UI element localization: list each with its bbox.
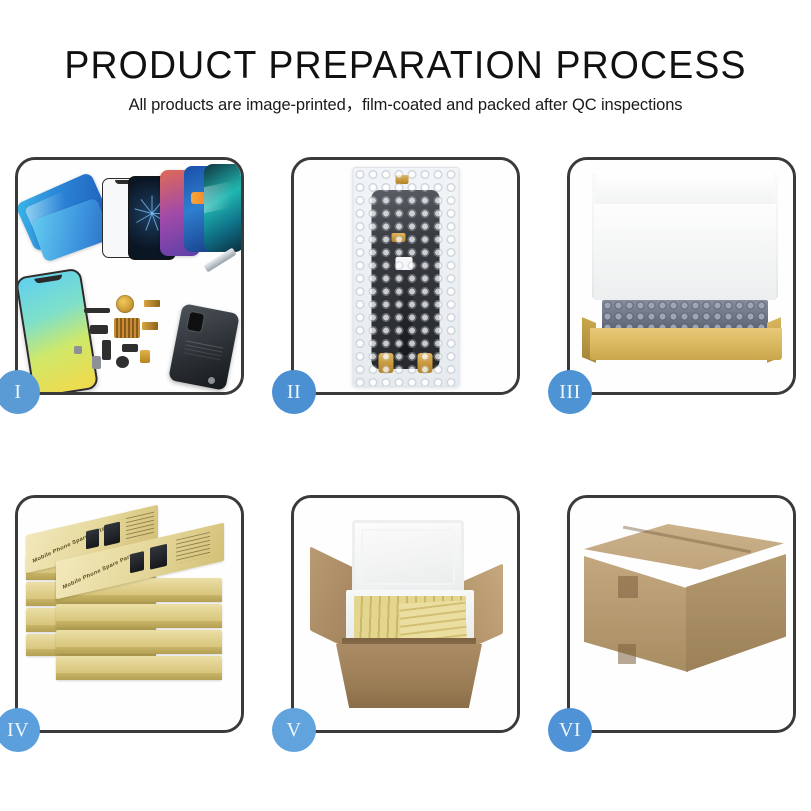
step-2-image <box>294 160 517 392</box>
step-panel-5: V <box>291 495 520 733</box>
process-step-grid: I II <box>15 157 796 735</box>
step-panel-4: Mobile Phone Spare Parts Mobile Phone Sp… <box>15 495 244 733</box>
foam-box-lid <box>352 520 464 594</box>
step-badge-5: V <box>272 708 316 752</box>
step-panel-2: II <box>291 157 520 395</box>
camera-flex-part <box>142 322 158 330</box>
gold-contact-part <box>140 350 150 363</box>
carton-right-face <box>686 554 786 672</box>
carton-front-panel <box>336 644 482 708</box>
vibrator-coil-part <box>116 295 134 313</box>
step-5-image <box>294 498 517 730</box>
battery-connector-part <box>122 344 138 352</box>
page-title: PRODUCT PREPARATION PROCESS <box>16 44 795 88</box>
step-6-image <box>570 498 793 730</box>
teal-gradient-phone <box>204 164 241 252</box>
carton-tape-lower <box>618 644 636 664</box>
white-foam-liner <box>594 204 776 300</box>
screw-part <box>74 346 82 354</box>
box-thumbnail-b1 <box>130 551 144 573</box>
step-panel-1: I <box>15 157 244 395</box>
flex-cable-part <box>144 300 160 307</box>
step-badge-2: II <box>272 370 316 414</box>
white-connector-tab <box>395 257 412 270</box>
box-spec-lines-1 <box>126 512 154 542</box>
box-lid-top-edge <box>596 174 774 204</box>
gold-box-front-4 <box>56 630 222 654</box>
step-badge-1: I <box>0 370 40 414</box>
gold-box-front-5 <box>56 656 222 680</box>
page-subtitle: All products are image-printed，film-coat… <box>0 94 811 116</box>
antenna-part <box>102 340 111 360</box>
header: PRODUCT PREPARATION PROCESS All products… <box>0 44 811 116</box>
gold-box-stack: Mobile Phone Spare Parts Mobile Phone Sp… <box>26 516 240 712</box>
speaker-part <box>84 308 110 313</box>
box-thumbnail-b2 <box>150 544 167 570</box>
gold-box-front-3 <box>56 604 222 628</box>
bubble-wrapped-contents <box>602 300 768 330</box>
step-3-image <box>570 160 793 392</box>
step-1-image <box>18 160 241 392</box>
box-spec-lines-2 <box>176 532 210 564</box>
gold-connector-right <box>418 353 433 373</box>
box-thumbnail-a2 <box>104 522 120 547</box>
carton-left-face <box>584 556 688 672</box>
gold-box-front-panel <box>590 328 782 360</box>
step-panel-6: VI <box>567 495 796 733</box>
gold-tape-middle <box>392 233 406 242</box>
ic-chip-array <box>114 318 140 338</box>
connector-part <box>90 325 108 334</box>
step-badge-3: III <box>548 370 592 414</box>
step-badge-6: VI <box>548 708 592 752</box>
bubble-wrap-bag <box>352 167 459 387</box>
gold-tape-top <box>395 175 408 184</box>
box-thumbnail-a1 <box>86 528 99 549</box>
carton-tape-upper <box>618 576 638 598</box>
speaker-module-part <box>116 356 129 368</box>
gold-boxes-row-2 <box>399 600 467 641</box>
step-4-image: Mobile Phone Spare Parts Mobile Phone Sp… <box>18 498 241 730</box>
small-screw-part <box>208 377 215 384</box>
step-panel-3: III <box>567 157 796 395</box>
sim-tray-part <box>92 356 101 369</box>
step-badge-4: IV <box>0 708 40 752</box>
gold-connector-left <box>378 353 393 373</box>
phone-back-housing <box>168 303 240 391</box>
product-preparation-infographic: PRODUCT PREPARATION PROCESS All products… <box>0 0 811 811</box>
